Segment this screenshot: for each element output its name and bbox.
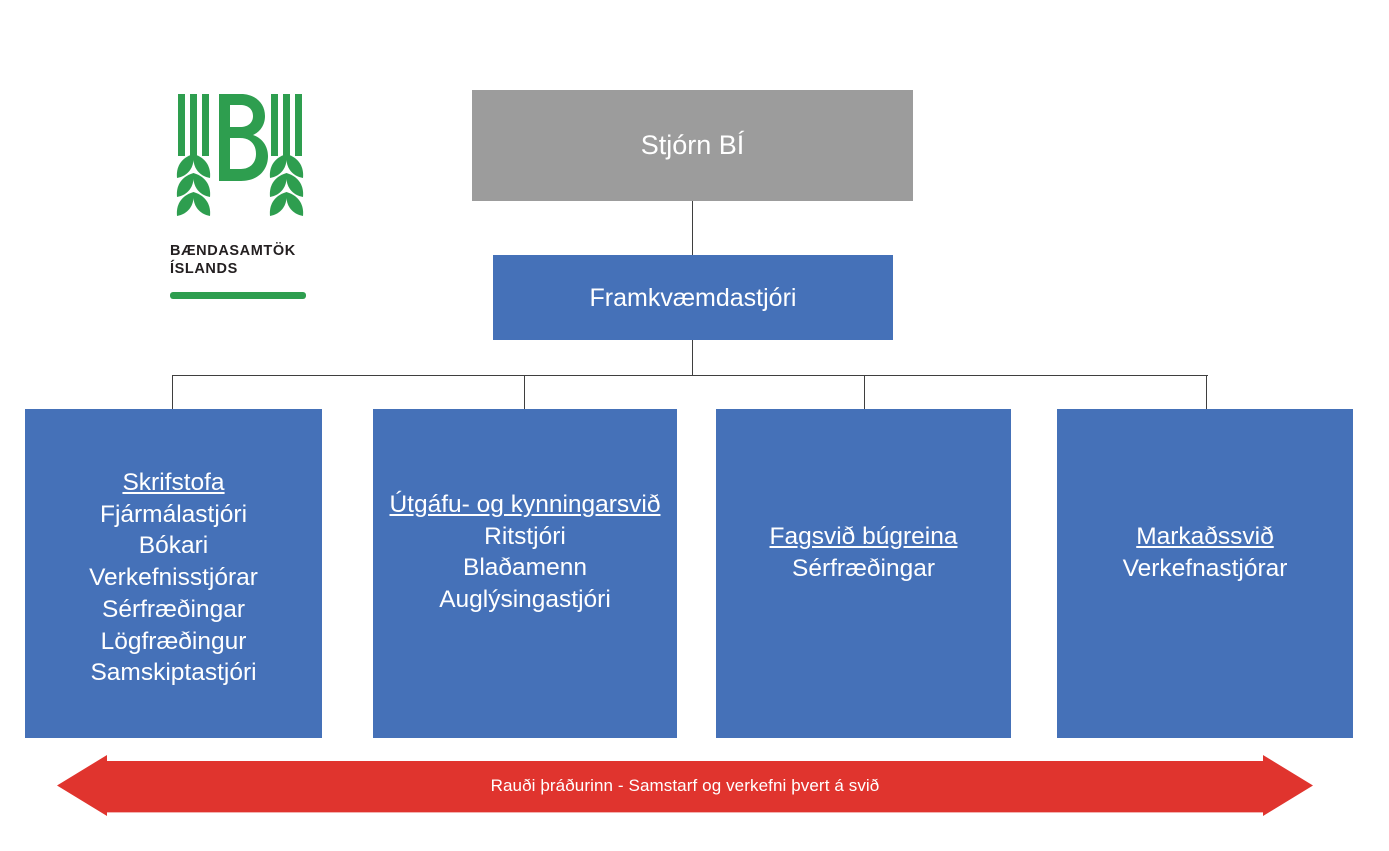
department-3-role: Sérfræðingar (716, 553, 1011, 585)
department-1-role: Fjármálastjóri (25, 499, 322, 531)
logo-wordmark: BÆNDASAMTÖK ÍSLANDS (170, 242, 310, 278)
node-department-skrifstofa[interactable]: Skrifstofa Fjármálastjóri Bókari Verkefn… (25, 409, 322, 738)
node-department-fagsvid-bugreina[interactable]: Fagsvið búgreina Sérfræðingar (716, 409, 1011, 738)
cross-department-banner: Rauði þráðurinn - Samstarf og verkefni þ… (57, 755, 1313, 816)
department-2-role: Ritstjóri (373, 521, 677, 553)
connector-board-to-executive (692, 201, 693, 255)
connector-executive-stem (692, 340, 693, 376)
wheat-b-logo-icon (174, 92, 306, 232)
department-1-role: Samskiptastjóri (25, 657, 322, 689)
department-1-content: Skrifstofa Fjármálastjóri Bókari Verkefn… (25, 409, 322, 689)
department-3-title: Fagsvið búgreina (716, 521, 1011, 553)
logo-line-1: BÆNDASAMTÖK (170, 243, 296, 259)
department-2-content: Útgáfu- og kynningarsvið Ritstjóri Blaða… (373, 409, 677, 616)
logo-underline-rule (170, 292, 306, 299)
department-1-role: Sérfræðingar (25, 594, 322, 626)
department-1-title: Skrifstofa (25, 467, 322, 499)
connector-drop-department-4 (1206, 375, 1207, 409)
node-executive-label: Framkvæmdastjóri (590, 284, 797, 312)
connector-drop-department-2 (524, 375, 525, 409)
connector-horizontal-bus (172, 375, 1208, 376)
node-department-utgafu-og-kynningarsvid[interactable]: Útgáfu- og kynningarsvið Ritstjóri Blaða… (373, 409, 677, 738)
node-department-markadssvid[interactable]: Markaðssvið Verkefnastjórar (1057, 409, 1353, 738)
department-1-role: Verkefnisstjórar (25, 562, 322, 594)
node-board[interactable]: Stjórn BÍ (472, 90, 913, 201)
connector-drop-department-1 (172, 375, 173, 409)
department-1-role: Bókari (25, 530, 322, 562)
logo-line-2: ÍSLANDS (170, 261, 238, 277)
department-3-content: Fagsvið búgreina Sérfræðingar (716, 409, 1011, 584)
department-1-role: Lögfræðingur (25, 626, 322, 658)
organization-logo: BÆNDASAMTÖK ÍSLANDS (170, 92, 310, 307)
department-2-title: Útgáfu- og kynningarsvið (373, 489, 677, 521)
cross-department-banner-label: Rauði þráðurinn - Samstarf og verkefni þ… (491, 776, 880, 796)
org-chart-canvas: BÆNDASAMTÖK ÍSLANDS Stjórn BÍ Framkvæmda… (0, 0, 1389, 851)
department-4-role: Verkefnastjórar (1057, 553, 1353, 585)
department-4-content: Markaðssvið Verkefnastjórar (1057, 409, 1353, 584)
department-2-role: Auglýsingastjóri (373, 584, 677, 616)
department-2-role: Blaðamenn (373, 552, 677, 584)
department-4-title: Markaðssvið (1057, 521, 1353, 553)
node-board-label: Stjórn BÍ (641, 130, 745, 160)
connector-drop-department-3 (864, 375, 865, 409)
node-executive[interactable]: Framkvæmdastjóri (493, 255, 893, 340)
